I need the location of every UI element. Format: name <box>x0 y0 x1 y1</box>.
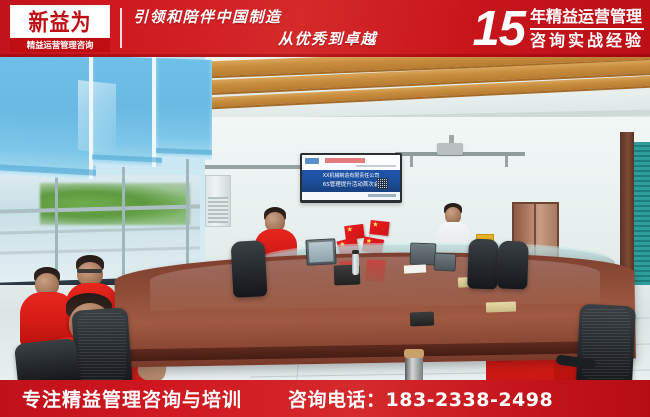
meeting-room-photo: XX机械制造有限责任公司 6S管理提升活动首次会 <box>0 57 650 380</box>
laptop-icon <box>410 243 437 266</box>
logo-tagline-box: 精益运营管理咨询 <box>10 38 110 52</box>
experience-text-line-1: 年精益运营管理 <box>530 6 644 28</box>
monitor-icon <box>434 252 457 271</box>
footer-banner: 专注精益管理咨询与培训 咨询电话：183-2338-2498 <box>0 380 650 417</box>
footer-contact-text: 咨询电话：183-2338-2498 <box>288 385 553 412</box>
window-mullion <box>122 157 125 292</box>
screen-mount-arm <box>410 156 413 167</box>
logo-brand-text: 新益为 <box>29 10 92 33</box>
bottle-cap <box>352 250 359 254</box>
experience-badge: 15 年精益运营管理 咨询实战经验 <box>472 1 644 56</box>
paper-sheet <box>404 264 426 273</box>
blind-gap <box>89 57 93 179</box>
outside-greenery <box>40 183 190 225</box>
chair-mesh-panel <box>78 313 126 380</box>
slogan-line-1: 引领和陪伴中国制造 <box>131 6 381 28</box>
office-chair[interactable] <box>497 240 529 289</box>
flag-reflection <box>365 259 385 282</box>
slide-logo-icon <box>305 158 319 164</box>
office-chair[interactable] <box>14 338 80 380</box>
device-box <box>410 312 434 327</box>
laptop-screen <box>308 241 333 262</box>
header-banner: 新益为 精益运营管理咨询 引领和陪伴中国制造 从优秀到卓越 15 年精益运营管理… <box>0 0 650 57</box>
notebook <box>486 301 516 312</box>
window-roller-blind[interactable] <box>156 58 212 160</box>
water-bottle <box>352 253 359 275</box>
screen-mount-arm <box>505 156 508 167</box>
blind-fold-highlight <box>78 80 116 154</box>
experience-text-line-2: 咨询实战经验 <box>530 30 644 52</box>
slide-footer-text-placeholder <box>368 194 396 197</box>
slide-subtitle-placeholder <box>356 165 396 167</box>
slogan-line-2: 从优秀到卓越 <box>131 28 381 50</box>
thermos-cap <box>404 349 424 358</box>
eyeglasses-icon <box>77 269 102 273</box>
footer-left-text: 专注精益管理咨询与培训 <box>22 385 242 412</box>
header-divider <box>120 8 122 48</box>
logo-tagline-text: 精益运营管理咨询 <box>27 39 93 51</box>
air-conditioner-grill <box>208 197 228 223</box>
slide-title-placeholder <box>325 158 365 163</box>
qr-code-icon <box>377 178 388 189</box>
promotional-banner-page: 新益为 精益运营管理咨询 引领和陪伴中国制造 从优秀到卓越 15 年精益运营管理… <box>0 0 650 417</box>
office-chair[interactable] <box>467 238 499 289</box>
experience-years-number: 15 <box>472 3 530 55</box>
office-chair[interactable] <box>231 240 268 298</box>
secondary-ceiling-rail <box>195 165 305 169</box>
logo-brand-box: 新益为 <box>10 5 110 38</box>
header-slogan: 引领和陪伴中国制造 从优秀到卓越 <box>131 6 381 52</box>
china-flag-icon <box>369 220 389 236</box>
company-logo[interactable]: 新益为 精益运营管理咨询 <box>10 5 110 53</box>
right-vertical-blinds <box>634 142 650 292</box>
experience-text-group: 年精益运营管理 咨询实战经验 <box>530 6 644 52</box>
projector-icon <box>437 143 463 155</box>
